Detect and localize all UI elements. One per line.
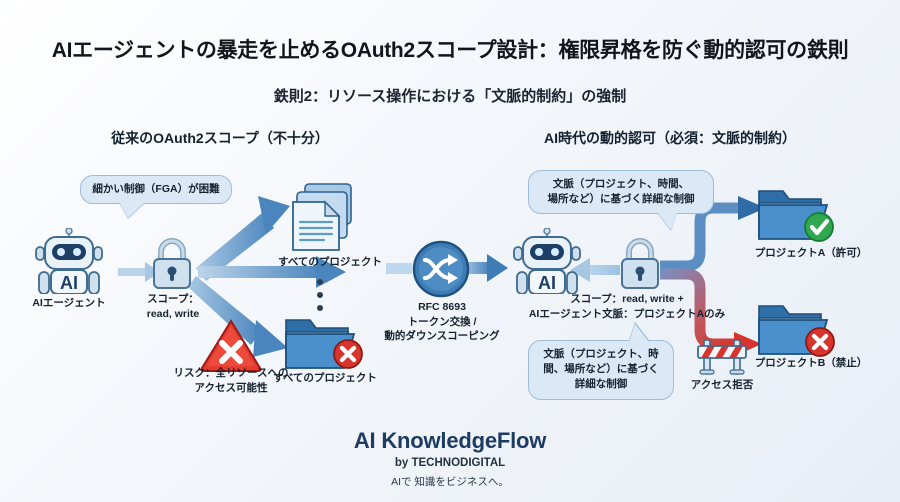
all-projects-folder-label: すべてのプロジェクト (263, 371, 387, 386)
all-projects-folder-denied (282, 310, 368, 372)
lock-icon (616, 236, 664, 290)
svg-text:AI: AI (538, 273, 556, 293)
ellipsis-dots (317, 279, 323, 311)
ai-agent-left-label: AIエージェント (16, 296, 122, 311)
scope-left-label-line1: スコープ： (130, 292, 216, 307)
rfc-line2: トークン交換 / (382, 315, 502, 330)
folder-check-icon (755, 185, 841, 247)
arrow-exchange-to-agent (466, 254, 508, 282)
bubble-context-bottom: 文脈（プロジェクト、時 間、場所など）に基づく 詳細な制御 (528, 340, 674, 400)
brand-by: by TECHNODIGITAL (0, 457, 900, 469)
brand-tagline: AIで 知識をビジネスへ。 (0, 474, 900, 489)
bubble-context-bottom-line3: 詳細な制御 (538, 377, 664, 392)
svg-text:AI: AI (60, 273, 78, 293)
scope-lock-right (616, 236, 664, 290)
access-denied-barrier (694, 334, 750, 376)
bubble-context-bottom-line1: 文脈（プロジェクト、時 (538, 347, 664, 362)
warning-triangle-icon (200, 318, 262, 372)
scope-right-line1: スコープ：read, write + (512, 292, 742, 307)
ai-agent-left: AI (26, 228, 112, 294)
bubble-tail (629, 324, 649, 342)
brand-name: AI KnowledgeFlow (0, 428, 900, 454)
robot-icon: AI (26, 228, 112, 294)
ai-agent-right: AI (504, 228, 590, 294)
diagram-canvas: AIエージェントの暴走を止めるOAuth2スコープ設計：権限昇格を防ぐ動的認可の… (0, 0, 900, 502)
documents-icon (283, 182, 365, 254)
scope-left-label: スコープ： read, write (130, 292, 216, 321)
shuffle-icon (412, 240, 470, 298)
robot-icon: AI (504, 228, 590, 294)
bubble-tail (119, 202, 145, 218)
folder-error-icon (755, 300, 841, 362)
all-projects-documents-label: すべてのプロジェクト (268, 255, 392, 270)
access-denied-label: アクセス拒否 (676, 378, 768, 393)
barrier-icon (694, 334, 750, 376)
project-b-folder (755, 300, 841, 362)
bubble-fga: 細かい制御（FGA）が困難 (80, 175, 232, 204)
scope-right-line2: AIエージェント文脈：プロジェクトAのみ (512, 307, 742, 322)
folder-error-icon (282, 310, 368, 372)
risk-warning (200, 318, 262, 372)
project-b-label: プロジェクトB（禁止） (736, 356, 886, 371)
bubble-context-top-line2: 場所など）に基づく詳細な制御 (538, 192, 704, 207)
scope-lock-left (148, 236, 196, 290)
bubble-context-bottom-line2: 間、場所など）に基づく (538, 362, 664, 377)
footer: AI KnowledgeFlow by TECHNODIGITAL AIで 知識… (0, 428, 900, 489)
rfc-line3: 動的ダウンスコーピング (382, 329, 502, 344)
all-projects-documents (283, 182, 365, 254)
lock-icon (148, 236, 196, 290)
token-exchange-label: RFC 8693 トークン交換 / 動的ダウンスコーピング (382, 300, 502, 344)
bubble-fga-text: 細かい制御（FGA）が困難 (92, 183, 219, 195)
bubble-tail (657, 212, 677, 230)
dot (317, 279, 323, 285)
project-a-folder (755, 185, 841, 247)
rfc-line1: RFC 8693 (382, 300, 502, 315)
token-exchange-node (412, 240, 470, 298)
scope-right-label: スコープ：read, write + AIエージェント文脈：プロジェクトAのみ (512, 292, 742, 321)
dot (317, 292, 323, 298)
bubble-context-top-line1: 文脈（プロジェクト、時間、 (538, 177, 704, 192)
bubble-context-top: 文脈（プロジェクト、時間、 場所など）に基づく詳細な制御 (528, 170, 714, 214)
project-a-label: プロジェクトA（許可） (736, 246, 886, 261)
